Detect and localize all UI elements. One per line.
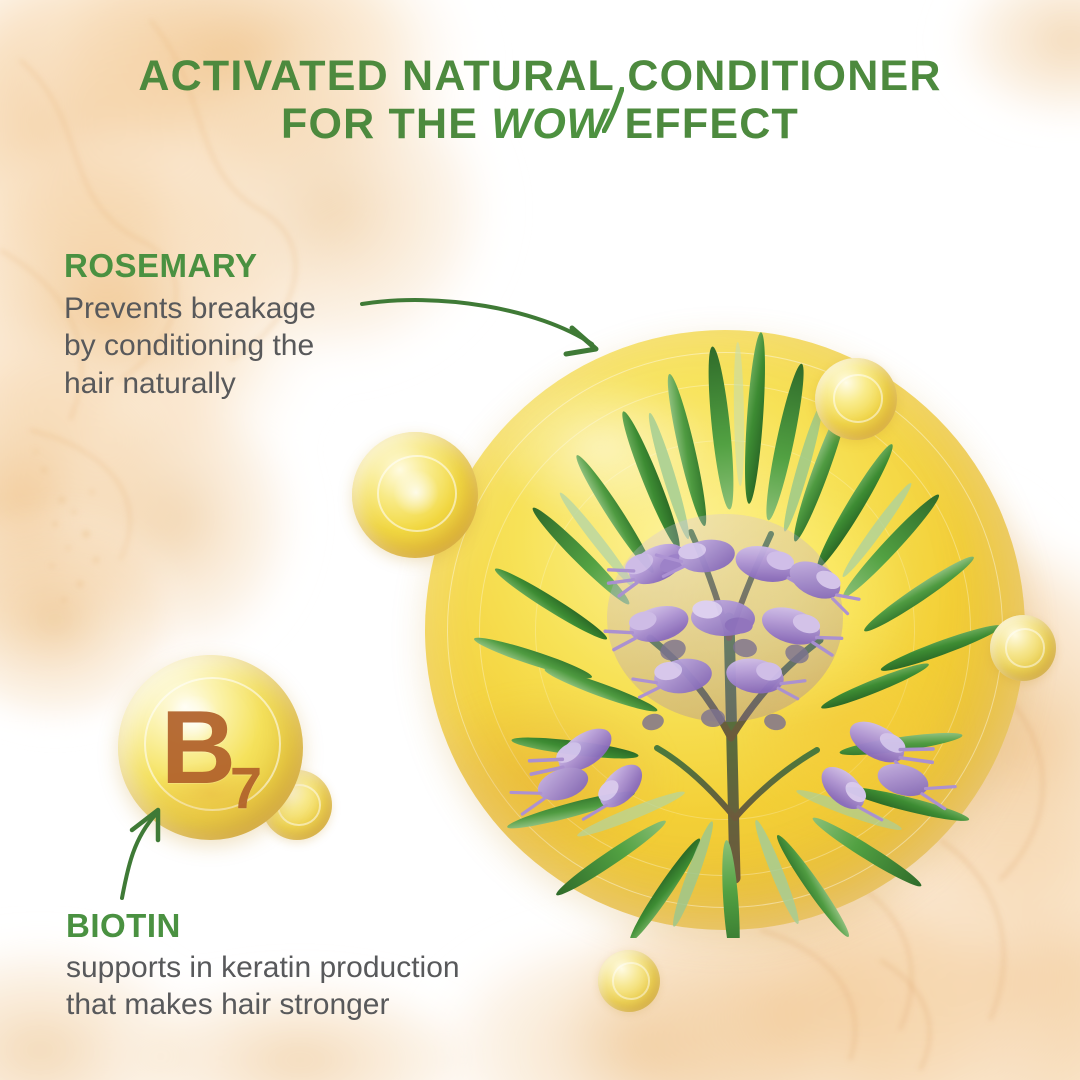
biotin-b7-bubble: B7 (118, 655, 303, 840)
headline: ACTIVATED NATURAL CONDITIONER FOR THE WO… (0, 52, 1080, 148)
oil-droplet-large-left (352, 432, 478, 558)
wow-text: WOW (491, 100, 607, 148)
oil-droplet-top-right (815, 358, 897, 440)
callout-biotin-body: supports in keratin production that make… (66, 949, 460, 1023)
droplet-ring (1005, 628, 1046, 668)
headline-line2-after: EFFECT (611, 100, 799, 148)
droplet-highlight (392, 470, 440, 515)
rosemary-arrow-icon (358, 286, 628, 366)
infographic-canvas: ACTIVATED NATURAL CONDITIONER FOR THE WO… (0, 0, 1080, 1080)
oil-droplet-bottom (598, 950, 660, 1012)
callout-rosemary-body: Prevents breakage by conditioning the ha… (64, 290, 316, 402)
callout-biotin: BIOTIN supports in keratin production th… (66, 908, 460, 1024)
b7-letter: B (161, 696, 234, 800)
callout-rosemary-title: ROSEMARY (64, 248, 316, 284)
callout-biotin-title: BIOTIN (66, 908, 460, 944)
oil-droplet-right-edge (990, 615, 1056, 681)
oil-pool-shadow-left (425, 690, 675, 870)
headline-line-2: FOR THE WOW EFFECT (0, 100, 1080, 148)
b7-number: 7 (230, 760, 260, 840)
golden-oil-pool (425, 330, 1025, 930)
callout-rosemary: ROSEMARY Prevents breakage by conditioni… (64, 248, 316, 402)
b7-label: B7 (118, 655, 303, 840)
headline-line2-before: FOR THE (281, 100, 491, 148)
headline-line-1: ACTIVATED NATURAL CONDITIONER (0, 52, 1080, 100)
wash-speckles-left (34, 450, 99, 602)
droplet-ring (833, 374, 883, 422)
droplet-ring (612, 962, 651, 999)
oil-pool-core-glow (625, 470, 925, 730)
wow-emphasis: WOW (491, 100, 611, 148)
